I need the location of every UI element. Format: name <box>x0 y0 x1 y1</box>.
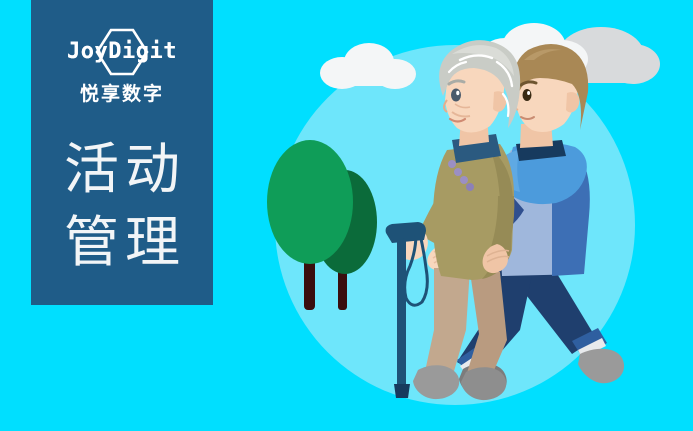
page-title: 活动 管理 <box>31 133 213 279</box>
page-title-line-1: 活动 <box>31 133 213 206</box>
woman-eye <box>451 89 461 102</box>
brand-logo: JoyDigit 悦享数字 <box>31 28 213 107</box>
cane-shaft <box>397 238 406 390</box>
page-title-line-2: 管理 <box>31 206 213 279</box>
logo-wordmark: JoyDigit <box>31 39 213 65</box>
logo-mark: JoyDigit <box>31 28 213 76</box>
logo-subtitle: 悦享数字 <box>31 83 213 107</box>
promo-banner: JoyDigit 悦享数字 活动 管理 <box>0 0 693 431</box>
young-man-eye <box>523 89 532 101</box>
title-panel: JoyDigit 悦享数字 活动 管理 <box>31 0 213 305</box>
cane-tip <box>394 384 410 398</box>
